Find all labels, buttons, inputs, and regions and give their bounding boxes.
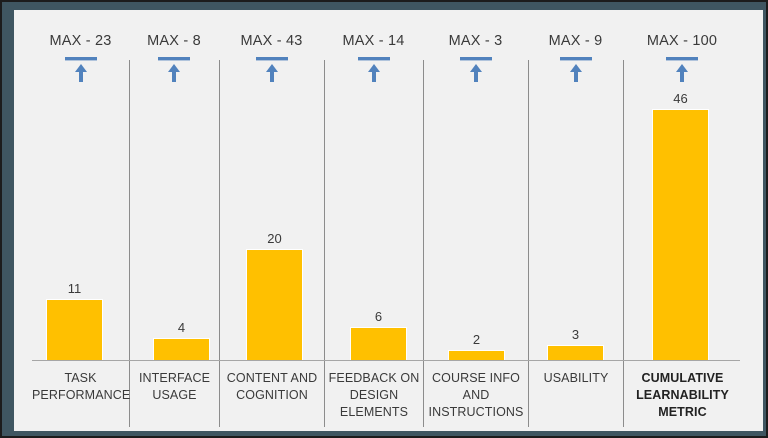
category-label-line: INSTRUCTIONS xyxy=(424,404,528,421)
bar-group-content-and-cognition[interactable]: 20 xyxy=(246,231,303,361)
align-top-arrow-icon xyxy=(623,56,741,84)
max-header-cell-5: MAX - 9 xyxy=(528,32,623,92)
max-header-cell-2: MAX - 43 xyxy=(219,32,324,92)
bar[interactable] xyxy=(153,338,210,361)
max-label: MAX - 3 xyxy=(423,32,528,50)
category-label-line: PERFORMANCE xyxy=(32,387,129,404)
align-top-arrow-icon xyxy=(32,56,129,84)
bar-group-cumulative-learnability-metric[interactable]: 46 xyxy=(652,91,709,361)
bar-group-feedback-on-design-elements[interactable]: 6 xyxy=(350,309,407,361)
plot-area: 11 4 20 6 2 3 xyxy=(14,96,763,361)
category-label-cumulative-learnability-metric: CUMULATIVE LEARNABILITY METRIC xyxy=(624,370,741,421)
bar[interactable] xyxy=(246,249,303,361)
bar-group-interface-usage[interactable]: 4 xyxy=(153,320,210,361)
category-label-line: CUMULATIVE xyxy=(624,370,741,387)
align-top-arrow-icon xyxy=(129,56,219,84)
category-label-interface-usage: INTERFACE USAGE xyxy=(130,370,219,404)
chart-plate: MAX - 23 MAX - 8 MAX - 43 xyxy=(14,10,763,431)
category-label-course-info-and-instructions: COURSE INFO AND INSTRUCTIONS xyxy=(424,370,528,421)
bar-value-label: 2 xyxy=(473,332,480,347)
max-label: MAX - 43 xyxy=(219,32,324,50)
bar-value-label: 4 xyxy=(178,320,185,335)
category-label-line: INTERFACE xyxy=(130,370,219,387)
bar[interactable] xyxy=(547,345,604,361)
max-header-cell-0: MAX - 23 xyxy=(32,32,129,92)
max-label: MAX - 23 xyxy=(32,32,129,50)
max-header-cell-6: MAX - 100 xyxy=(623,32,741,92)
category-label-line: COGNITION xyxy=(220,387,324,404)
max-label: MAX - 14 xyxy=(324,32,423,50)
align-top-arrow-icon xyxy=(219,56,324,84)
max-label: MAX - 8 xyxy=(129,32,219,50)
category-label-line: CONTENT AND xyxy=(220,370,324,387)
max-header-cell-3: MAX - 14 xyxy=(324,32,423,92)
bar-value-label: 11 xyxy=(68,281,82,296)
max-label: MAX - 100 xyxy=(623,32,741,50)
category-label-feedback-on-design-elements: FEEDBACK ON DESIGN ELEMENTS xyxy=(325,370,423,421)
bar[interactable] xyxy=(46,299,103,361)
align-top-arrow-icon xyxy=(528,56,623,84)
bar-value-label: 20 xyxy=(267,231,281,246)
category-label-task-performance: TASK PERFORMANCE xyxy=(32,370,129,404)
bar[interactable] xyxy=(652,109,709,361)
bar-group-course-info-and-instructions[interactable]: 2 xyxy=(448,332,505,361)
category-label-content-and-cognition: CONTENT AND COGNITION xyxy=(220,370,324,404)
category-label-line: LEARNABILITY xyxy=(624,387,741,404)
bar-value-label: 46 xyxy=(673,91,687,106)
category-label-line: FEEDBACK ON xyxy=(325,370,423,387)
bar-group-task-performance[interactable]: 11 xyxy=(46,281,103,361)
category-label-line: ELEMENTS xyxy=(325,404,423,421)
bar-value-label: 6 xyxy=(375,309,382,324)
align-top-arrow-icon xyxy=(423,56,528,84)
category-label-line: USABILITY xyxy=(529,370,623,387)
max-header-cell-4: MAX - 3 xyxy=(423,32,528,92)
bar-value-label: 3 xyxy=(572,327,579,342)
category-label-line: DESIGN xyxy=(325,387,423,404)
max-header-cell-1: MAX - 8 xyxy=(129,32,219,92)
category-axis-line xyxy=(32,360,740,361)
category-label-usability: USABILITY xyxy=(529,370,623,387)
bar-group-usability[interactable]: 3 xyxy=(547,327,604,361)
category-label-line: COURSE INFO xyxy=(424,370,528,387)
screenshot-frame: MAX - 23 MAX - 8 MAX - 43 xyxy=(0,0,768,438)
bar[interactable] xyxy=(350,327,407,361)
category-label-line: AND xyxy=(424,387,528,404)
category-label-line: TASK xyxy=(32,370,129,387)
align-top-arrow-icon xyxy=(324,56,423,84)
max-label: MAX - 9 xyxy=(528,32,623,50)
category-label-line: USAGE xyxy=(130,387,219,404)
category-label-line: METRIC xyxy=(624,404,741,421)
